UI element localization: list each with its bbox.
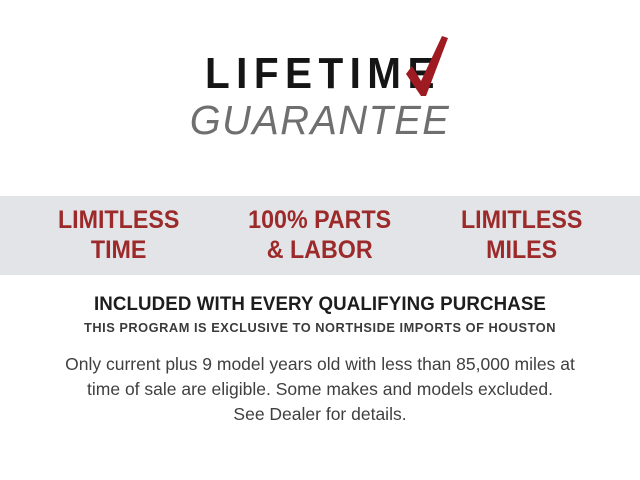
benefit-line-2: & LABOR [226,236,413,266]
disclaimer-line: See Dealer for details. [0,402,640,427]
lifetime-guarantee-ad: LIFETIME GUARANTEE LIMITLESS TIME 100% P… [0,0,640,480]
logo-block: LIFETIME GUARANTEE [0,52,640,142]
promo-copy: INCLUDED WITH EVERY QUALIFYING PURCHASE … [0,292,640,427]
promo-subline: THIS PROGRAM IS EXCLUSIVE TO NORTHSIDE I… [10,320,631,336]
benefit-column-limitless-time: LIMITLESS TIME [25,206,212,265]
benefit-line-1: 100% PARTS [226,206,413,236]
disclaimer-line: Only current plus 9 model years old with… [0,352,640,377]
benefit-line-1: LIMITLESS [428,206,615,236]
promo-disclaimer: Only current plus 9 model years old with… [0,352,640,427]
benefit-column-limitless-miles: LIMITLESS MILES [428,206,615,265]
logo-lockup: LIFETIME [188,52,451,96]
benefit-line-2: TIME [25,236,212,266]
benefit-line-1: LIMITLESS [25,206,212,236]
promo-headline: INCLUDED WITH EVERY QUALIFYING PURCHASE [13,292,627,316]
disclaimer-line: time of sale are eligible. Some makes an… [0,377,640,402]
logo-secondary-text: GUARANTEE [10,99,631,142]
benefits-band: LIMITLESS TIME 100% PARTS & LABOR LIMITL… [0,196,640,275]
benefit-line-2: MILES [428,236,615,266]
benefit-column-parts-labor: 100% PARTS & LABOR [226,206,413,265]
logo-primary-text: LIFETIME [199,52,441,96]
